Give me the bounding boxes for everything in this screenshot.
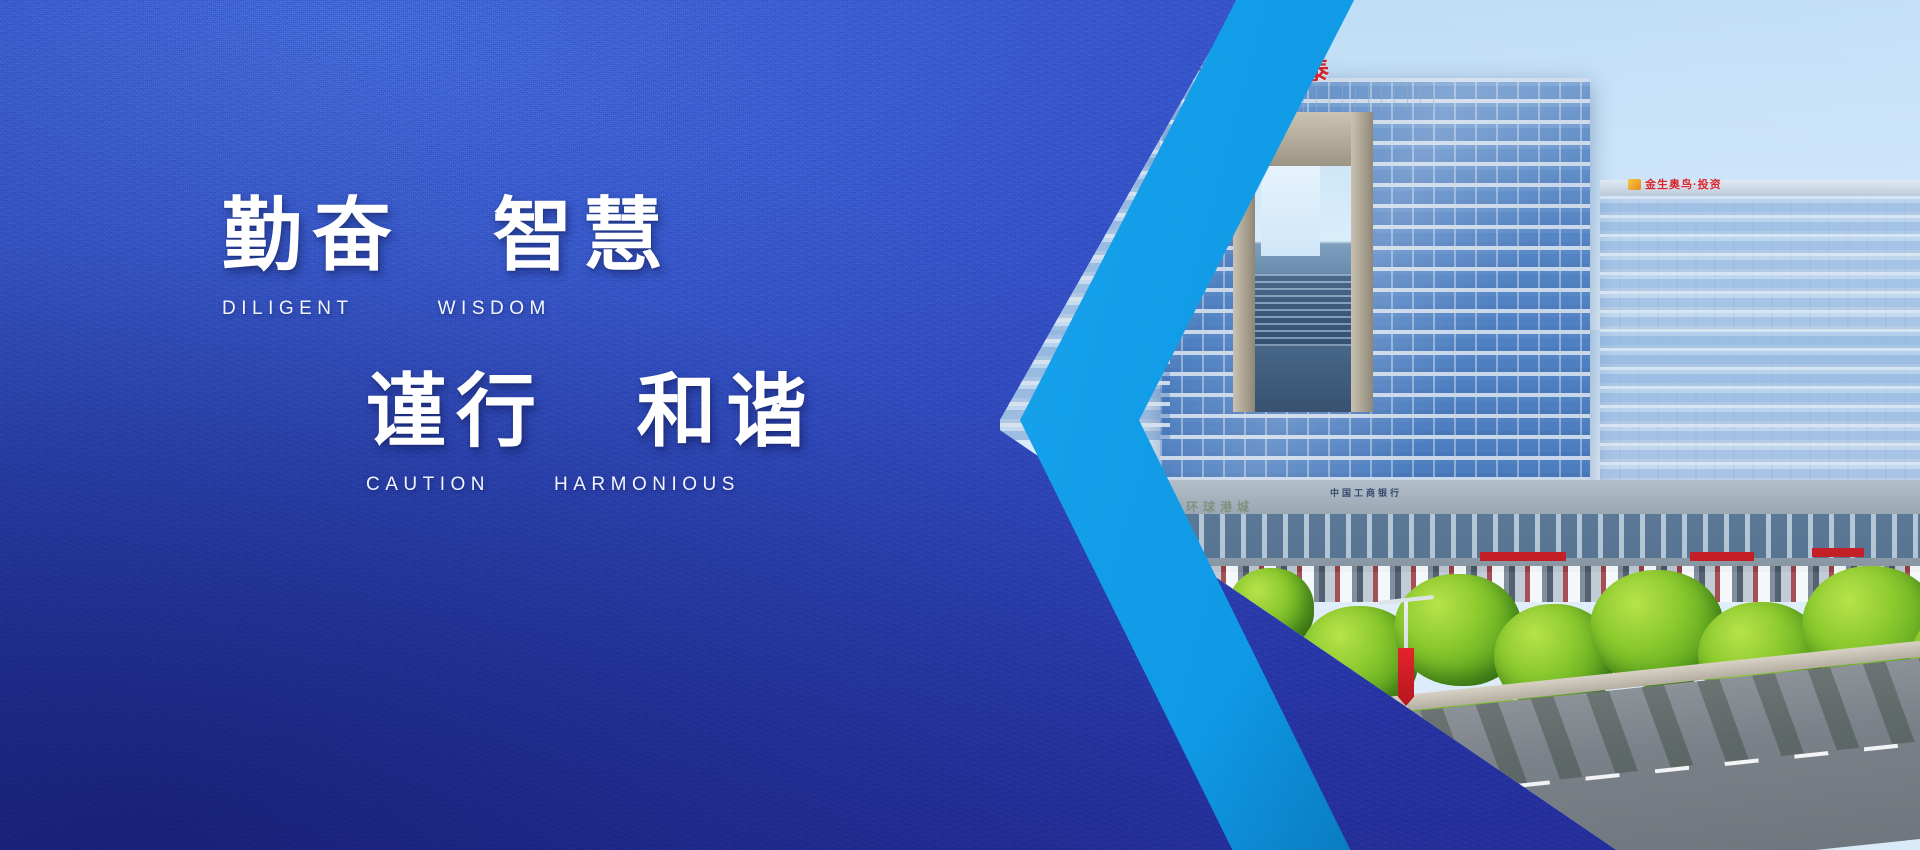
lamp-post-red-banner — [1398, 648, 1414, 706]
slogan-line-2-subtitle: CAUTION HARMONIOUS — [366, 474, 816, 496]
sign-logo-icon — [1628, 179, 1641, 190]
podium-sign-mall: 环球港城 — [1186, 498, 1254, 515]
slogan-line-2: 谨行 和谐 CAUTION HARMONIOUS — [366, 372, 816, 496]
podium-sign-bank: 中国工商银行 — [1330, 486, 1402, 499]
slogan-line-2-headline: 谨行 和谐 — [366, 372, 816, 452]
secondary-tower-building — [1600, 196, 1920, 526]
slogan-1-en-right: WISDOM — [438, 298, 551, 320]
slogan-1-en-left: DILIGENT — [222, 298, 354, 320]
slogan-2-en-left: CAUTION — [366, 474, 490, 496]
slogan-line-1-headline: 勤奋 智慧 — [222, 196, 672, 276]
arch-pillar-right — [1351, 112, 1373, 412]
slogan-2-en-right: HARMONIOUS — [554, 474, 740, 496]
slogan-2-cn-left: 谨行 — [366, 367, 546, 456]
arch-sky-opening — [1261, 166, 1321, 256]
slogan-line-1: 勤奋 智慧 DILIGENT WISDOM — [222, 196, 672, 320]
shop-awning — [1812, 548, 1864, 557]
slogan-1-cn-right: 智慧 — [492, 191, 672, 280]
rooftop-sign-secondary-group: 金生奥鸟·投资 — [1628, 176, 1722, 192]
hero-banner: 江苏国泰 金生奥鸟·投资 中国工商银行 环球港城 — [0, 0, 1920, 850]
slogan-2-cn-right: 和谐 — [636, 367, 816, 456]
slogan-block: 勤奋 智慧 DILIGENT WISDOM 谨行 和谐 CAUTION HARM… — [0, 0, 1000, 850]
slogan-line-1-subtitle: DILIGENT WISDOM — [222, 298, 672, 320]
rooftop-sign-secondary: 金生奥鸟·投资 — [1645, 176, 1722, 192]
arch-sky-bridge — [1255, 274, 1351, 346]
slogan-1-cn-left: 勤奋 — [222, 191, 402, 280]
